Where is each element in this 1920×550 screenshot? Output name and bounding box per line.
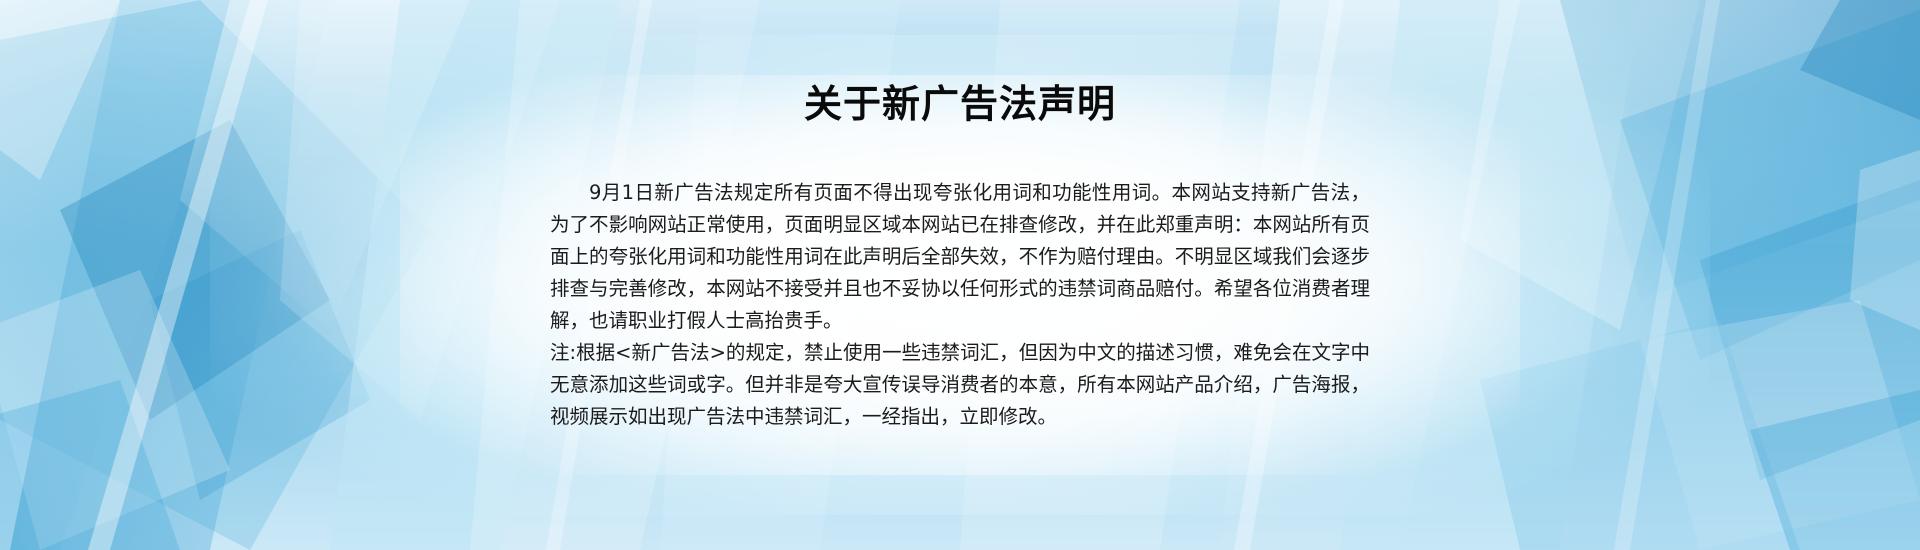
statement-body: 9月1日新广告法规定所有页面不得出现夸张化用词和功能性用词。本网站支持新广告法，…	[550, 177, 1370, 433]
page-title: 关于新广告法声明	[804, 82, 1116, 128]
advertising-law-statement-banner: 关于新广告法声明 9月1日新广告法规定所有页面不得出现夸张化用词和功能性用词。本…	[0, 0, 1920, 550]
statement-paragraph-note: 注:根据<新广告法>的规定，禁止使用一些违禁词汇，但因为中文的描述习惯，难免会在…	[550, 337, 1370, 433]
statement-content: 关于新广告法声明 9月1日新广告法规定所有页面不得出现夸张化用词和功能性用词。本…	[0, 0, 1920, 550]
statement-paragraph-main: 9月1日新广告法规定所有页面不得出现夸张化用词和功能性用词。本网站支持新广告法，…	[550, 177, 1370, 337]
